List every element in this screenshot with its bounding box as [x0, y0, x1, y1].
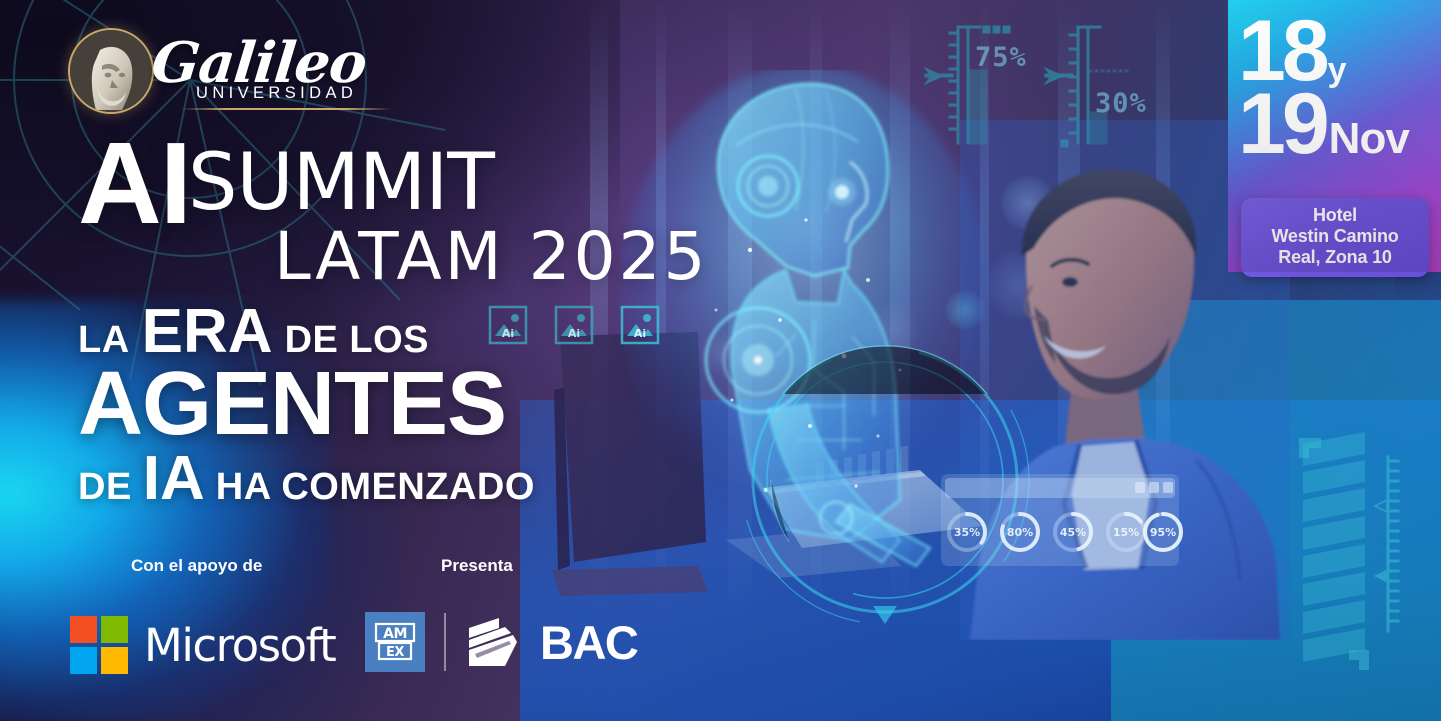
svg-text:35%: 35%: [954, 526, 980, 539]
microsoft-square-green: [101, 616, 128, 643]
svg-text:EX: EX: [386, 645, 404, 660]
date-conjunction: y: [1328, 57, 1347, 85]
microsoft-wordmark: Microsoft: [144, 619, 335, 672]
ai-image-placeholder-icon: Ai: [554, 305, 594, 345]
sponsor-logos: Microsoft AM EX: [0, 608, 640, 688]
title-ai-text: AI: [78, 134, 190, 234]
galileo-universidad-text: UNIVERSIDAD: [196, 84, 357, 103]
hud-stripes-ruler: [1283, 410, 1433, 710]
sponsor-section: Con el apoyo de Presenta Microsoft: [0, 556, 640, 688]
event-date-panel: 18 y 19 Nov Hotel Westin Camino Real, Zo…: [1228, 0, 1441, 272]
tagline-line-3: DE IA HA COMENZADO: [78, 443, 535, 514]
tagline-agentes: AGENTES: [78, 361, 506, 447]
hud-dashboard-card: 35% 80% 45% 15% 95%: [935, 470, 1185, 570]
venue-badge: Hotel Westin Camino Real, Zona 10: [1241, 198, 1429, 277]
bac-shield-icon: [465, 614, 527, 670]
title-summit-text: SUMMIT: [188, 144, 494, 222]
tagline-ia: IA: [143, 443, 205, 514]
date-day-1: 18: [1238, 16, 1326, 87]
galileo-university-logo: Galileo UNIVERSIDAD: [68, 28, 393, 114]
galileo-portrait-medallion: [68, 28, 154, 114]
date-month: Nov: [1329, 121, 1409, 157]
date-row-first: 18 y: [1238, 16, 1435, 87]
svg-text:Ai: Ai: [634, 327, 646, 340]
venue-line-1: Hotel: [1247, 205, 1423, 226]
microsoft-logo: Microsoft: [70, 616, 335, 674]
venue-line-3: Real, Zona 10: [1247, 247, 1423, 268]
hud-gauge-left-value: 75%: [975, 42, 1027, 73]
sponsor-labels: Con el apoyo de Presenta: [0, 556, 640, 582]
amex-logo: AM EX: [365, 612, 425, 672]
galileo-bust-icon: [70, 30, 154, 114]
title-latam-year-text: LATAM 2025: [274, 218, 709, 295]
tagline-line-2: AGENTES: [78, 361, 535, 447]
galileo-wordmark: Galileo UNIVERSIDAD: [158, 28, 393, 114]
svg-text:AM: AM: [383, 626, 407, 642]
venue-line-2: Westin Camino: [1247, 226, 1423, 247]
event-title: AI SUMMIT LATAM 2025: [78, 138, 709, 295]
microsoft-square-yellow: [101, 647, 128, 674]
sponsor-presents-label: Presenta: [441, 556, 513, 576]
tagline-ha-comenzado: HA COMENZADO: [216, 466, 535, 509]
hud-bar-gauges: 75% 30%: [905, 8, 1195, 158]
amex-mark-icon: AM EX: [365, 612, 425, 672]
galileo-gold-rule: [180, 108, 392, 110]
bac-wordmark: BAC: [540, 615, 637, 670]
svg-text:45%: 45%: [1060, 526, 1086, 539]
microsoft-square-blue: [70, 647, 97, 674]
svg-text:15%: 15%: [1113, 526, 1139, 539]
svg-text:Ai: Ai: [568, 327, 580, 340]
date-day-2: 19: [1238, 89, 1326, 160]
date-numbers: 18 y 19 Nov: [1238, 16, 1435, 159]
microsoft-squares-icon: [70, 616, 128, 674]
microsoft-square-red: [70, 616, 97, 643]
sponsor-support-label: Con el apoyo de: [131, 556, 262, 576]
tagline-de: DE: [78, 466, 132, 509]
presenting-sponsor-logos: AM EX: [365, 612, 637, 672]
event-tagline: LA ERA DE LOS AGENTES DE IA HA COMENZADO: [78, 296, 535, 514]
event-banner: 75% 30% 35%: [0, 0, 1441, 721]
ai-image-placeholder-icon: Ai: [620, 305, 660, 345]
svg-text:80%: 80%: [1007, 526, 1033, 539]
svg-text:95%: 95%: [1150, 526, 1176, 539]
sponsor-divider: [444, 613, 446, 671]
hud-gauge-right-value: 30%: [1095, 88, 1147, 119]
date-row-second: 19 Nov: [1238, 89, 1435, 160]
bac-logo: BAC: [465, 614, 637, 670]
